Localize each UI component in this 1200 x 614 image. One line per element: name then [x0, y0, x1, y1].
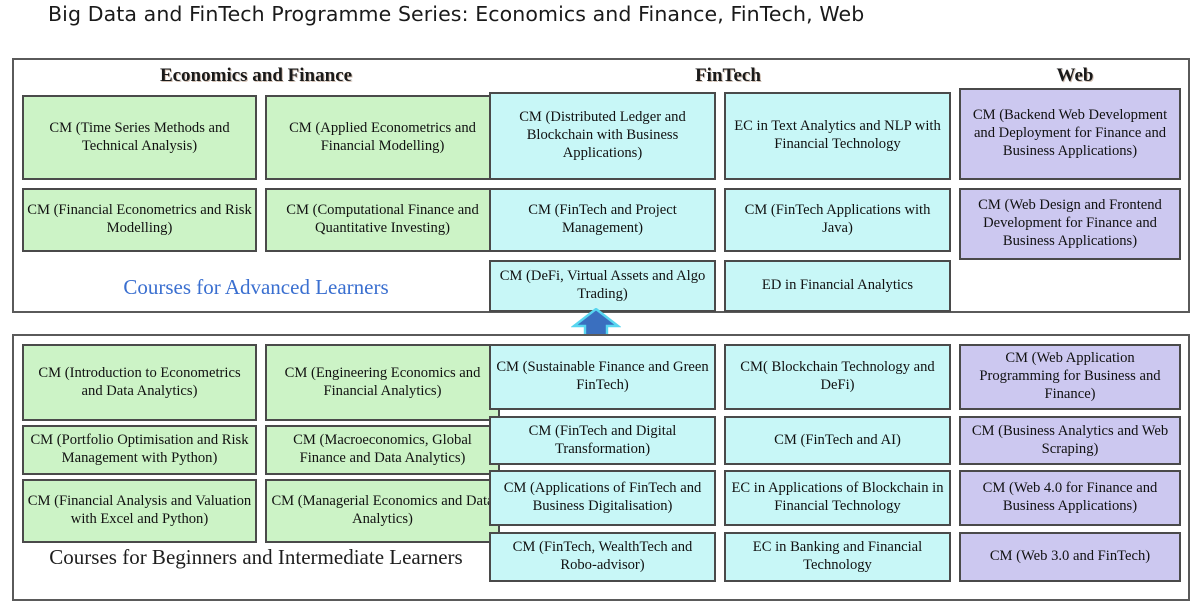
course-box[interactable]: CM (Applied Econometrics and Financial M… — [265, 95, 500, 180]
course-box[interactable]: CM (Web 3.0 and FinTech) — [959, 532, 1181, 582]
page-title: Big Data and FinTech Programme Series: E… — [48, 2, 864, 26]
course-box[interactable]: CM (Backend Web Development and Deployme… — [959, 88, 1181, 180]
course-box[interactable]: CM (Web Design and Frontend Development … — [959, 188, 1181, 260]
course-box[interactable]: CM( Blockchain Technology and DeFi) — [724, 344, 951, 410]
course-box[interactable]: CM (Introduction to Econometrics and Dat… — [22, 344, 257, 421]
course-box[interactable]: CM (FinTech and Digital Transformation) — [489, 416, 716, 465]
course-box[interactable]: CM (Sustainable Finance and Green FinTec… — [489, 344, 716, 410]
course-box[interactable]: CM (Computational Finance and Quantitati… — [265, 188, 500, 252]
course-box[interactable]: CM (Applications of FinTech and Business… — [489, 470, 716, 526]
course-box[interactable]: CM (FinTech and Project Management) — [489, 188, 716, 252]
advanced-learners-panel: Economics and Finance FinTech Web CM (Ti… — [12, 58, 1190, 313]
column-header-economics-and-finance: Economics and Finance — [22, 65, 490, 87]
course-box[interactable]: CM (Web Application Programming for Busi… — [959, 344, 1181, 410]
course-box[interactable]: CM (FinTech and AI) — [724, 416, 951, 465]
course-box[interactable]: CM (FinTech Applications with Java) — [724, 188, 951, 252]
course-box[interactable]: EC in Applications of Blockchain in Fina… — [724, 470, 951, 526]
course-box[interactable]: CM (Business Analytics and Web Scraping) — [959, 416, 1181, 465]
beginner-intermediate-caption: Courses for Beginners and Intermediate L… — [22, 545, 490, 570]
course-box[interactable]: CM (FinTech, WealthTech and Robo-advisor… — [489, 532, 716, 582]
advanced-learners-caption: Courses for Advanced Learners — [22, 275, 490, 300]
course-box[interactable]: ED in Financial Analytics — [724, 260, 951, 312]
course-box[interactable]: CM (Portfolio Optimisation and Risk Mana… — [22, 425, 257, 475]
course-box[interactable]: CM (Engineering Economics and Financial … — [265, 344, 500, 421]
course-box[interactable]: CM (Financial Econometrics and Risk Mode… — [22, 188, 257, 252]
course-box[interactable]: CM (Macroeconomics, Global Finance and D… — [265, 425, 500, 475]
column-header-fintech: FinTech — [494, 65, 962, 87]
course-box[interactable]: EC in Banking and Financial Technology — [724, 532, 951, 582]
course-box[interactable]: CM (Time Series Methods and Technical An… — [22, 95, 257, 180]
course-box[interactable]: CM (DeFi, Virtual Assets and Algo Tradin… — [489, 260, 716, 312]
column-header-web: Web — [966, 65, 1184, 87]
course-box[interactable]: EC in Text Analytics and NLP with Financ… — [724, 92, 951, 180]
course-box[interactable]: CM (Managerial Economics and Data Analyt… — [265, 479, 500, 543]
course-box[interactable]: CM (Financial Analysis and Valuation wit… — [22, 479, 257, 543]
course-box[interactable]: CM (Distributed Ledger and Blockchain wi… — [489, 92, 716, 180]
course-box[interactable]: CM (Web 4.0 for Finance and Business App… — [959, 470, 1181, 526]
beginner-intermediate-panel: CM (Introduction to Econometrics and Dat… — [12, 334, 1190, 601]
